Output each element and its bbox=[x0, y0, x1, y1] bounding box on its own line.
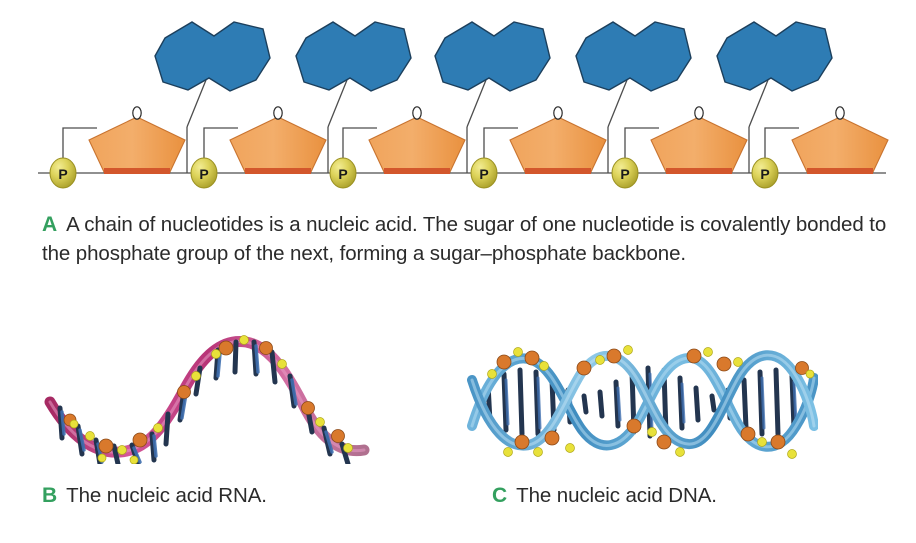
nucleotide-chain-diagram: O P P bbox=[0, 0, 916, 200]
oxygen-marker bbox=[554, 107, 562, 119]
phosphate-label: P bbox=[479, 166, 488, 182]
chain-svg: O P P bbox=[0, 0, 916, 200]
caption-text-b: The nucleic acid RNA. bbox=[66, 484, 267, 507]
sugar-bottom-edge bbox=[245, 168, 311, 174]
sugar-bottom-edge bbox=[525, 168, 591, 174]
nucleotide-unit-6: P bbox=[752, 107, 888, 188]
caption-panel-c: CThe nucleic acid DNA. bbox=[492, 481, 892, 510]
phosphate-label: P bbox=[620, 166, 629, 182]
rna-molecular-model bbox=[44, 332, 370, 464]
phosphate-label: P bbox=[58, 166, 67, 182]
dna-svg bbox=[466, 330, 818, 468]
sugar-bottom-edge bbox=[807, 168, 873, 174]
panel-label-c: C bbox=[492, 484, 507, 507]
caption-panel-a: AA chain of nucleotides is a nucleic aci… bbox=[42, 210, 887, 268]
sugar-bottom-edge bbox=[666, 168, 732, 174]
dna-molecular-model bbox=[466, 330, 818, 468]
sugar-pentagon bbox=[651, 117, 747, 172]
nitrogenous-base bbox=[155, 22, 270, 91]
caption-panel-b: BThe nucleic acid RNA. bbox=[42, 481, 442, 510]
caption-text-a: A chain of nucleotides is a nucleic acid… bbox=[42, 213, 886, 265]
oxygen-marker bbox=[274, 107, 282, 119]
nitrogenous-base bbox=[296, 22, 411, 91]
oxygen-marker bbox=[695, 107, 703, 119]
caption-text-c: The nucleic acid DNA. bbox=[516, 484, 717, 507]
phosphate-label: P bbox=[760, 166, 769, 182]
phosphate-label: P bbox=[338, 166, 347, 182]
nitrogenous-base bbox=[717, 22, 832, 91]
nucleic-acid-figure: O P P bbox=[0, 0, 916, 543]
rna-svg bbox=[44, 332, 370, 464]
phosphate-label: P bbox=[199, 166, 208, 182]
sugar-pentagon bbox=[510, 117, 606, 172]
sugar-pentagon bbox=[369, 117, 465, 172]
sugar-pentagon bbox=[89, 117, 185, 172]
oxygen-marker bbox=[413, 107, 421, 119]
oxygen-marker bbox=[836, 107, 844, 119]
nucleotide-unit-1: O P bbox=[50, 22, 270, 188]
sugar-pentagon bbox=[792, 117, 888, 172]
panel-label-a: A bbox=[42, 213, 57, 236]
panel-label-b: B bbox=[42, 484, 57, 507]
nitrogenous-base bbox=[576, 22, 691, 91]
sugar-pentagon bbox=[230, 117, 326, 172]
nitrogenous-base bbox=[435, 22, 550, 91]
sugar-bottom-edge bbox=[104, 168, 170, 174]
sugar-bottom-edge bbox=[384, 168, 450, 174]
